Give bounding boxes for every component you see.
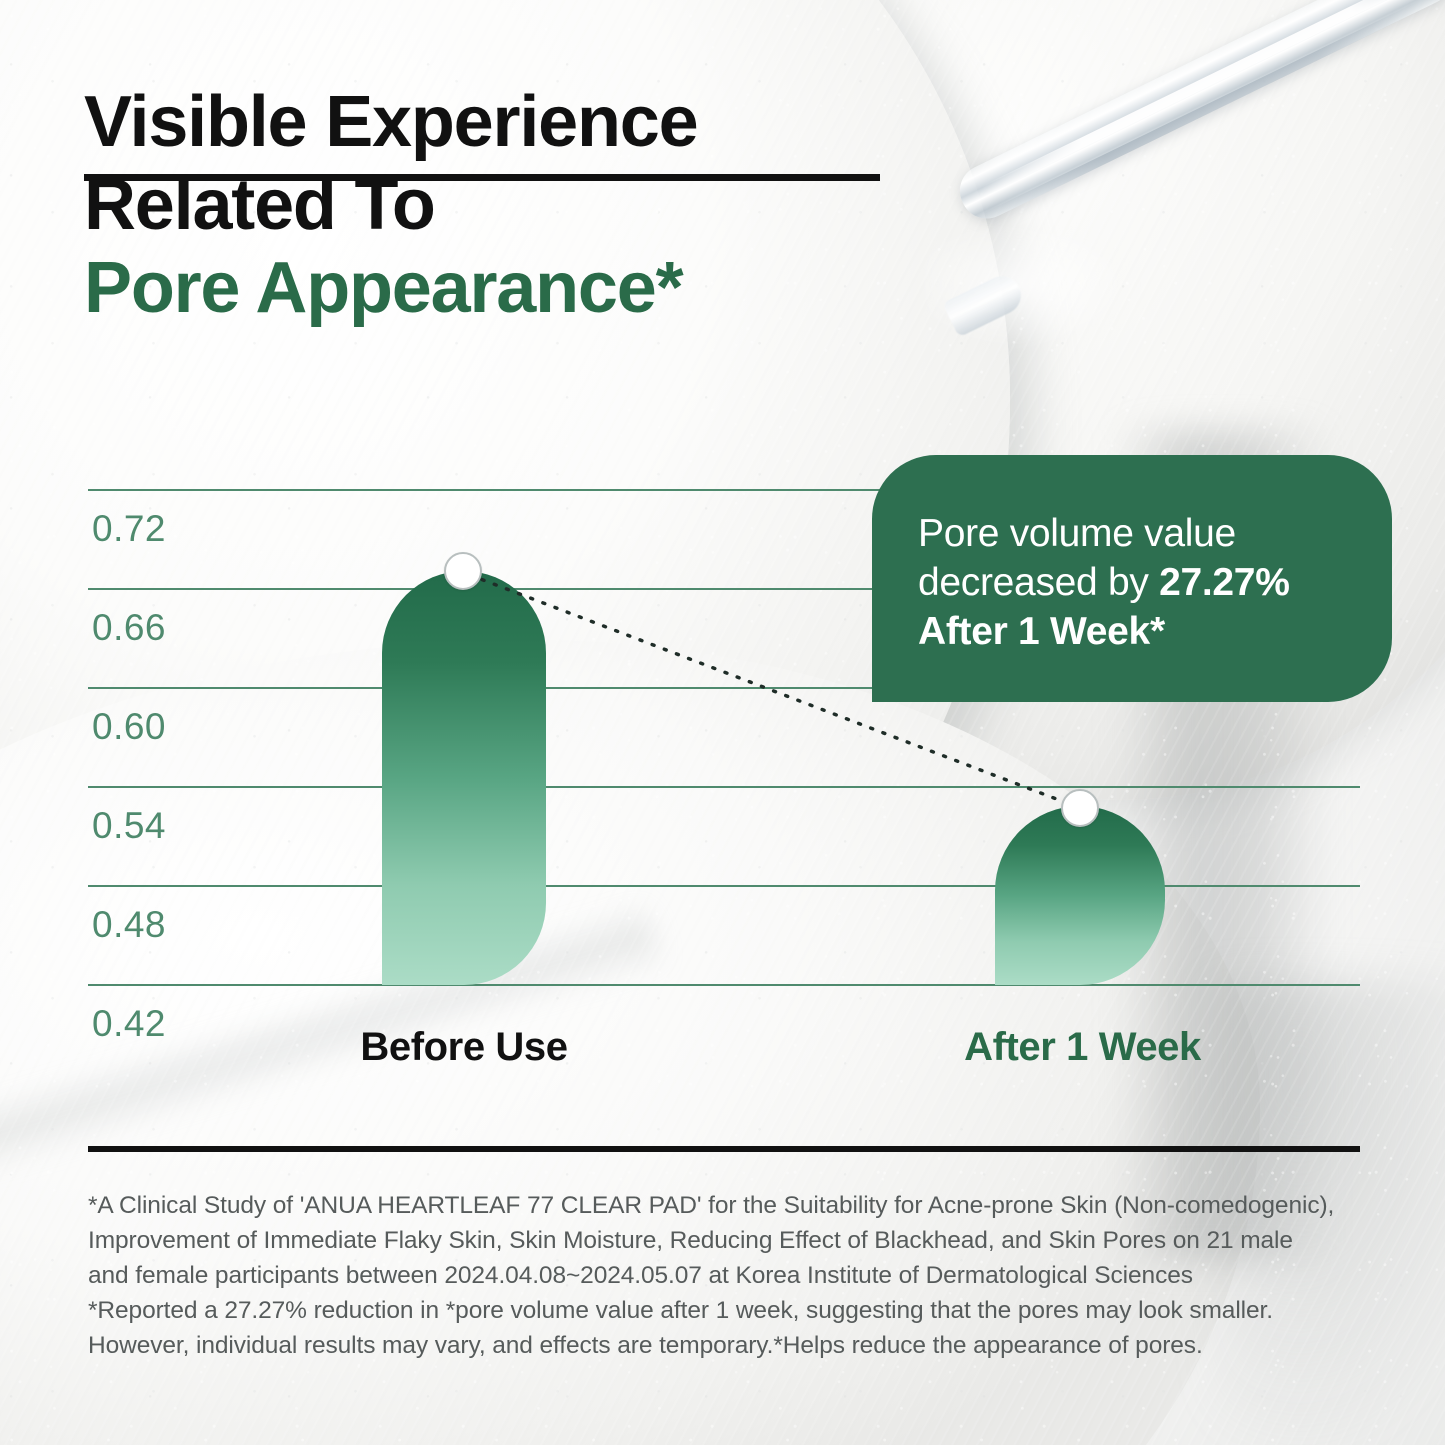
y-axis-tick-1: 0.66 [92,607,166,649]
data-point-marker-after [1061,789,1099,827]
result-callout-box: Pore volume value decreased by 27.27% Af… [872,455,1392,702]
footnote-text: *A Clinical Study of 'ANUA HEARTLEAF 77 … [88,1188,1378,1363]
category-label-before-use: Before Use [344,1025,584,1070]
callout-line-2-prefix: decreased by [918,561,1159,604]
footnote-line-3: and female participants between 2024.04.… [88,1258,1378,1293]
callout-line-1: Pore volume value [918,509,1352,558]
callout-line-3: After 1 Week* [918,607,1352,656]
y-axis-tick-4: 0.48 [92,904,166,946]
footnote-divider [88,1146,1360,1152]
footnote-line-5: However, individual results may vary, an… [88,1328,1378,1363]
category-label-after-1-week: After 1 Week [950,1025,1215,1070]
callout-percent-value: 27.27% [1159,561,1289,604]
y-axis-tick-0: 0.72 [92,508,166,550]
gridline-3 [88,786,1360,788]
y-axis-tick-3: 0.54 [92,805,166,847]
footnote-line-4: *Reported a 27.27% reduction in *pore vo… [88,1293,1378,1328]
footnote-line-2: Improvement of Immediate Flaky Skin, Ski… [88,1223,1378,1258]
callout-line-2: decreased by 27.27% [918,558,1352,607]
bar-after-1-week [995,806,1165,985]
footnote-line-1: *A Clinical Study of 'ANUA HEARTLEAF 77 … [88,1188,1378,1223]
y-axis-tick-2: 0.60 [92,706,166,748]
bar-before-use [382,571,546,985]
gridline-4 [88,885,1360,887]
infographic-canvas: Visible Experience Related To Pore Appea… [0,0,1445,1445]
gridline-5 [88,984,1360,986]
y-axis-tick-5: 0.42 [92,1003,166,1045]
data-point-marker-before [444,552,482,590]
